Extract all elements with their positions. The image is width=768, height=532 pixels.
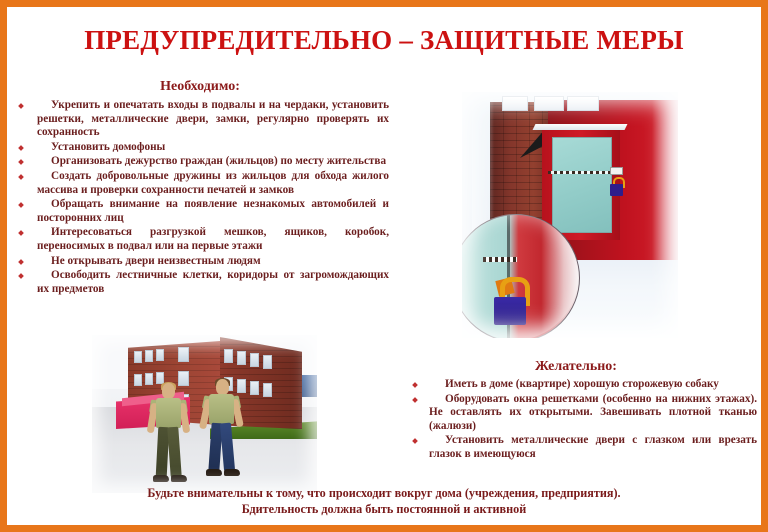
- desirable-heading: Желательно:: [395, 359, 757, 375]
- building-window: [224, 349, 233, 363]
- list-item: Создать добровольные дружины из жильцов …: [11, 170, 389, 197]
- necessary-measures-list: Укрепить и опечатать входы в подвалы и н…: [11, 99, 389, 296]
- building-window: [534, 96, 564, 111]
- building-window: [134, 374, 142, 386]
- building-window: [145, 350, 153, 362]
- building-window: [263, 383, 272, 397]
- list-item: Укрепить и опечатать входы в подвалы и н…: [11, 99, 389, 140]
- desirable-measures-list: Иметь в доме (квартире) хорошую сторожев…: [395, 378, 757, 462]
- necessary-measures-section: Необходимо: Укрепить и опечатать входы в…: [11, 79, 389, 297]
- head: [162, 383, 175, 399]
- building-window: [237, 351, 246, 365]
- footer-callout: Будьте внимательны к тому, что происходи…: [17, 485, 751, 517]
- padlock-icon: [610, 184, 623, 196]
- magnified-seal-strip: [483, 257, 517, 262]
- safety-poster: ПРЕДУПРЕДИТЕЛЬНО – ЗАЩИТНЫЕ МЕРЫ Необход…: [0, 0, 768, 532]
- shoe: [206, 469, 222, 476]
- footer-line-1: Будьте внимательны к тому, что происходи…: [17, 485, 751, 501]
- necessary-heading: Необходимо:: [11, 79, 389, 95]
- list-item: Установить домофоны: [11, 141, 389, 155]
- page-title: ПРЕДУПРЕДИТЕЛЬНО – ЗАЩИТНЫЕ МЕРЫ: [7, 25, 761, 56]
- building-window: [567, 96, 599, 111]
- shoe: [153, 475, 169, 482]
- shoe: [224, 469, 240, 476]
- building-window: [502, 96, 528, 111]
- leg: [167, 427, 181, 478]
- head: [216, 379, 229, 395]
- magnified-padlock-icon: [494, 297, 526, 325]
- footer-line-2: Бдительность должна быть постоянной и ак…: [17, 501, 751, 517]
- building-window: [156, 349, 164, 361]
- shoe: [171, 475, 187, 482]
- wall-fade-overlay: [652, 100, 678, 260]
- desirable-measures-section: Желательно: Иметь в доме (квартире) хоро…: [395, 359, 757, 463]
- list-item: Не открывать двери неизвестным людям: [11, 255, 389, 269]
- building-window: [134, 351, 142, 363]
- patrol-person-1: [144, 383, 200, 489]
- leg: [220, 423, 235, 472]
- shirt: [156, 398, 181, 428]
- list-item: Обращать внимание на появление незнакомы…: [11, 198, 389, 225]
- list-item: Освободить лестничные клетки, коридоры о…: [11, 269, 389, 296]
- paper-seal-strip: [548, 171, 618, 174]
- list-item: Установить металлические двери с глазком…: [395, 434, 757, 461]
- residents-patrol-photo: [92, 335, 317, 493]
- sealed-basement-door-photo: [462, 92, 678, 338]
- metal-door-leaf: [552, 137, 612, 233]
- building-window: [263, 355, 272, 369]
- building-window: [250, 353, 259, 367]
- seal-tag: [610, 167, 623, 175]
- list-item: Оборудовать окна решетками (особенно на …: [395, 393, 757, 434]
- patrol-person-2: [196, 379, 252, 485]
- building-window: [178, 347, 189, 362]
- list-item: Интересоваться разгрузкой мешков, ящиков…: [11, 226, 389, 253]
- list-item: Организовать дежурство граждан (жильцов)…: [11, 155, 389, 169]
- shirt: [209, 394, 234, 424]
- list-item: Иметь в доме (квартире) хорошую сторожев…: [395, 378, 757, 392]
